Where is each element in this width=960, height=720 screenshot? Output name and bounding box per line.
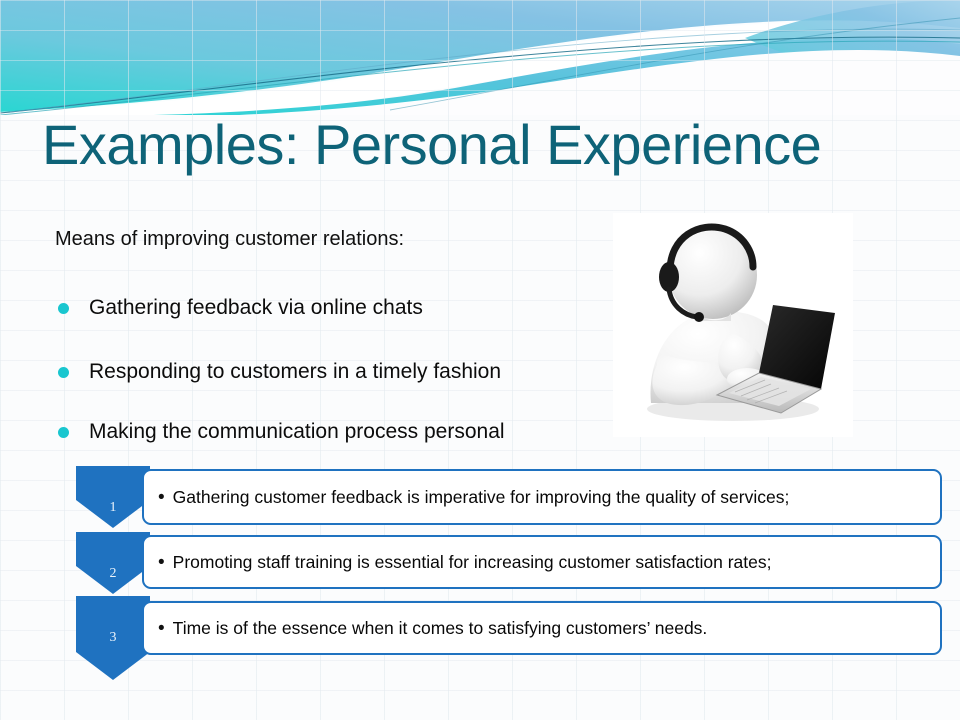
bullet-label: Making the communication process persona…	[89, 420, 505, 444]
step-callout[interactable]: • Time is of the essence when it comes t…	[142, 601, 942, 655]
bullet-item-3: Making the communication process persona…	[58, 420, 505, 444]
step-number: 1	[76, 500, 150, 516]
person-with-headset-laptop-image	[613, 213, 853, 437]
wave-banner-graphic	[0, 0, 960, 115]
step-text: Promoting staff training is essential fo…	[173, 552, 772, 573]
presentation-slide: Examples: Personal Experience Means of i…	[0, 0, 960, 720]
process-step-3[interactable]: 3 • Time is of the essence when it comes…	[76, 596, 942, 682]
bullet-item-1: Gathering feedback via online chats	[58, 296, 423, 320]
bullet-item-2: Responding to customers in a timely fash…	[58, 360, 501, 384]
bullet-dot-icon	[58, 303, 69, 314]
bullet-label: Responding to customers in a timely fash…	[89, 360, 501, 384]
step-text: Gathering customer feedback is imperativ…	[173, 487, 790, 508]
step-number: 3	[76, 630, 150, 646]
step-callout[interactable]: • Gathering customer feedback is imperat…	[142, 469, 942, 525]
page-title: Examples: Personal Experience	[42, 116, 922, 175]
process-list: 1 • Gathering customer feedback is imper…	[76, 466, 942, 678]
step-number: 2	[76, 566, 150, 582]
step-text: Time is of the essence when it comes to …	[173, 618, 708, 639]
wave-banner	[0, 0, 960, 115]
callout-bullet-icon: •	[158, 619, 165, 638]
callout-bullet-icon: •	[158, 488, 165, 507]
process-step-1[interactable]: 1 • Gathering customer feedback is imper…	[76, 466, 942, 540]
process-step-2[interactable]: 2 • Promoting staff training is essentia…	[76, 532, 942, 606]
bullet-dot-icon	[58, 427, 69, 438]
step-callout[interactable]: • Promoting staff training is essential …	[142, 535, 942, 589]
bullet-label: Gathering feedback via online chats	[89, 296, 423, 320]
person-laptop-illustration	[613, 213, 853, 437]
callout-bullet-icon: •	[158, 553, 165, 572]
bullet-dot-icon	[58, 367, 69, 378]
lead-in-text: Means of improving customer relations:	[55, 228, 404, 251]
